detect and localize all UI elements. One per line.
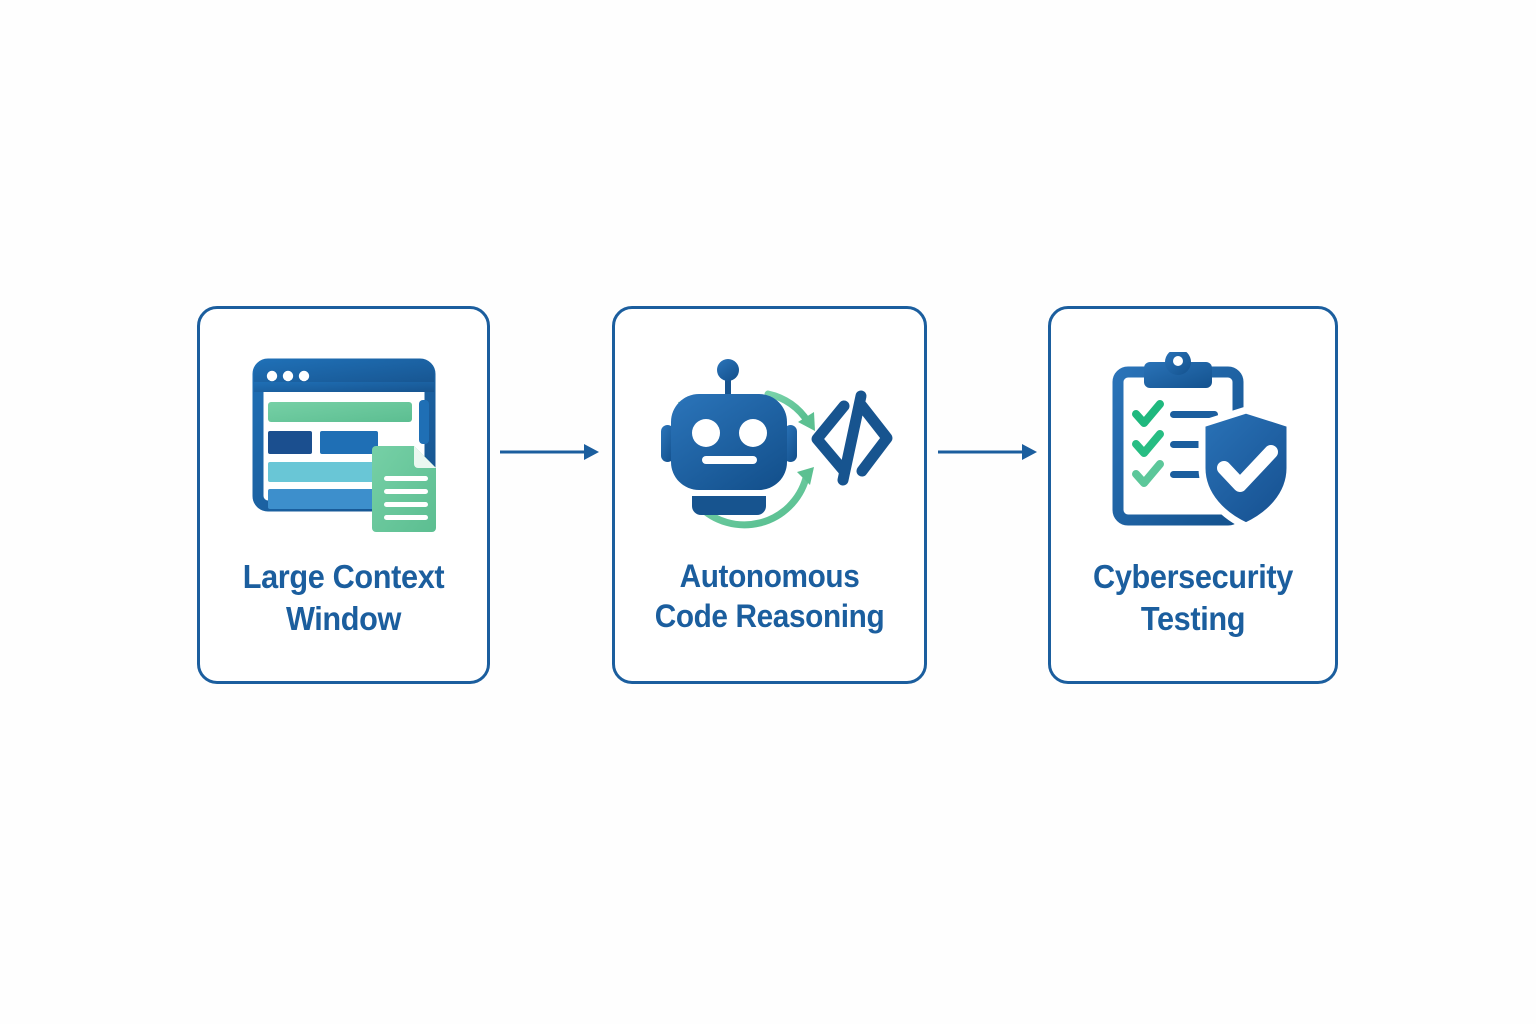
card-label-line-1: Autonomous [631,556,907,596]
arrow-2-connector [938,440,1038,464]
card-label-line-2: Testing [1067,598,1320,640]
card-cybersecurity-testing[interactable]: Cybersecurity Testing [1048,306,1338,684]
card-label-line-2: Window [216,598,472,640]
arrow-1-connector [500,440,600,464]
browser-window-document-icon [200,347,487,537]
card-label-cybersecurity-testing: Cybersecurity Testing [1067,556,1320,639]
card-label-autonomous-code-reasoning: Autonomous Code Reasoning [631,556,907,637]
card-label-large-context-window: Large Context Window [216,556,472,639]
card-large-context-window[interactable]: Large Context Window [197,306,490,684]
clipboard-shield-check-icon [1051,347,1335,537]
diagram-canvas: Large Context Window [0,0,1536,1024]
card-label-line-2: Code Reasoning [631,596,907,636]
card-label-line-1: Cybersecurity [1067,556,1320,598]
robot-code-loop-icon [615,347,924,537]
card-label-line-1: Large Context [216,556,472,598]
card-autonomous-code-reasoning[interactable]: Autonomous Code Reasoning [612,306,927,684]
